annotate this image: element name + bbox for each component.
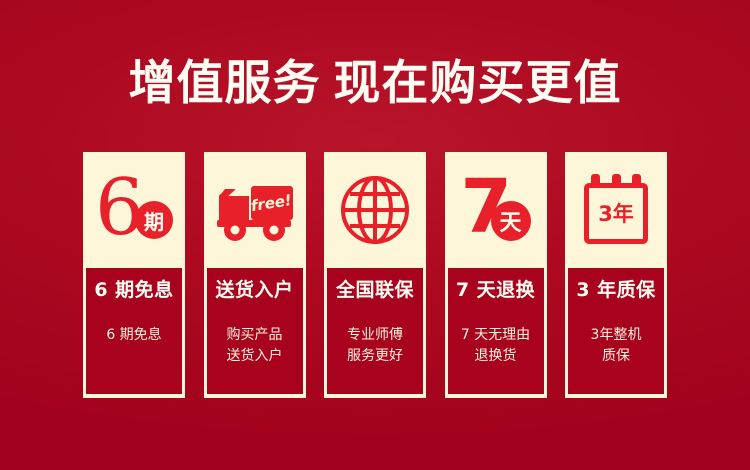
card-description-line: 3年整机 bbox=[591, 325, 642, 346]
service-card-delivery[interactable]: free! 送货入户 购买产品 送货入户 bbox=[204, 152, 306, 398]
delivery-truck-icon: free! bbox=[215, 176, 295, 244]
card-description-line: 质保 bbox=[591, 346, 642, 367]
six-badge: 期 bbox=[135, 201, 173, 239]
card-description: 6 期免息 bbox=[106, 325, 161, 346]
card-description-line: 服务更好 bbox=[347, 346, 403, 367]
service-card-quality-guarantee[interactable]: 3年 3 年质保 3年整机 质保 bbox=[565, 152, 667, 398]
service-card-installment[interactable]: 6 期 6 期免息 6 期免息 bbox=[83, 152, 185, 398]
card-body-inner: 6 期免息 6 期免息 bbox=[86, 268, 182, 394]
globe-icon bbox=[339, 174, 411, 246]
seven-day-icon: 7 天 bbox=[455, 173, 537, 247]
card-description: 专业师傅 服务更好 bbox=[347, 325, 403, 367]
card-icon-area bbox=[324, 152, 426, 268]
card-title: 送货入户 bbox=[215, 278, 293, 303]
card-icon-area: free! bbox=[204, 152, 306, 268]
promo-banner: 增值服务现在购买更值 6 期 6 期免息 6 期免息 bbox=[0, 0, 750, 470]
card-body: 7 天退换 7 天无理由 退换货 bbox=[445, 268, 547, 398]
calendar-frame: 3年 bbox=[584, 183, 648, 244]
card-body: 3 年质保 3年整机 质保 bbox=[565, 268, 667, 398]
card-description-line: 购买产品 bbox=[227, 325, 283, 346]
card-icon-area: 3年 bbox=[565, 152, 667, 268]
headline-sub: 现在购买更值 bbox=[334, 56, 622, 111]
card-body: 6 期免息 6 期免息 bbox=[83, 268, 185, 398]
card-description-line: 送货入户 bbox=[227, 346, 283, 367]
card-title: 7 天退换 bbox=[456, 278, 535, 303]
card-description: 7 天无理由 退换货 bbox=[461, 325, 530, 367]
seven-badge: 天 bbox=[491, 201, 531, 241]
card-description-line: 7 天无理由 bbox=[461, 325, 530, 346]
calendar-label: 3年 bbox=[598, 203, 634, 225]
page-title: 增值服务现在购买更值 bbox=[0, 52, 750, 116]
service-card-list: 6 期 6 期免息 6 期免息 bbox=[83, 152, 667, 398]
card-title: 全国联保 bbox=[336, 278, 414, 303]
service-card-nationwide-warranty[interactable]: 全国联保 专业师傅 服务更好 bbox=[324, 152, 426, 398]
card-icon-area: 6 期 bbox=[83, 152, 185, 268]
card-body-inner: 全国联保 专业师傅 服务更好 bbox=[327, 268, 423, 394]
card-body-inner: 7 天退换 7 天无理由 退换货 bbox=[448, 268, 544, 394]
card-icon-area: 7 天 bbox=[445, 152, 547, 268]
card-body: 送货入户 购买产品 送货入户 bbox=[204, 268, 306, 398]
calendar-icon: 3年 bbox=[582, 174, 650, 246]
card-body-inner: 送货入户 购买产品 送货入户 bbox=[207, 268, 303, 394]
card-body-inner: 3 年质保 3年整机 质保 bbox=[568, 268, 664, 394]
card-description: 购买产品 送货入户 bbox=[227, 325, 283, 367]
headline-main: 增值服务 bbox=[129, 56, 321, 111]
card-description-line: 6 期免息 bbox=[106, 325, 161, 346]
card-description-line: 专业师傅 bbox=[347, 325, 403, 346]
six-period-icon: 6 期 bbox=[91, 173, 177, 247]
card-title: 3 年质保 bbox=[576, 278, 655, 303]
card-description-line: 退换货 bbox=[461, 346, 530, 367]
card-body: 全国联保 专业师傅 服务更好 bbox=[324, 268, 426, 398]
service-card-return[interactable]: 7 天 7 天退换 7 天无理由 退换货 bbox=[445, 152, 547, 398]
six-numeral: 6 bbox=[95, 169, 145, 247]
card-description: 3年整机 质保 bbox=[591, 325, 642, 367]
card-title: 6 期免息 bbox=[94, 278, 173, 303]
